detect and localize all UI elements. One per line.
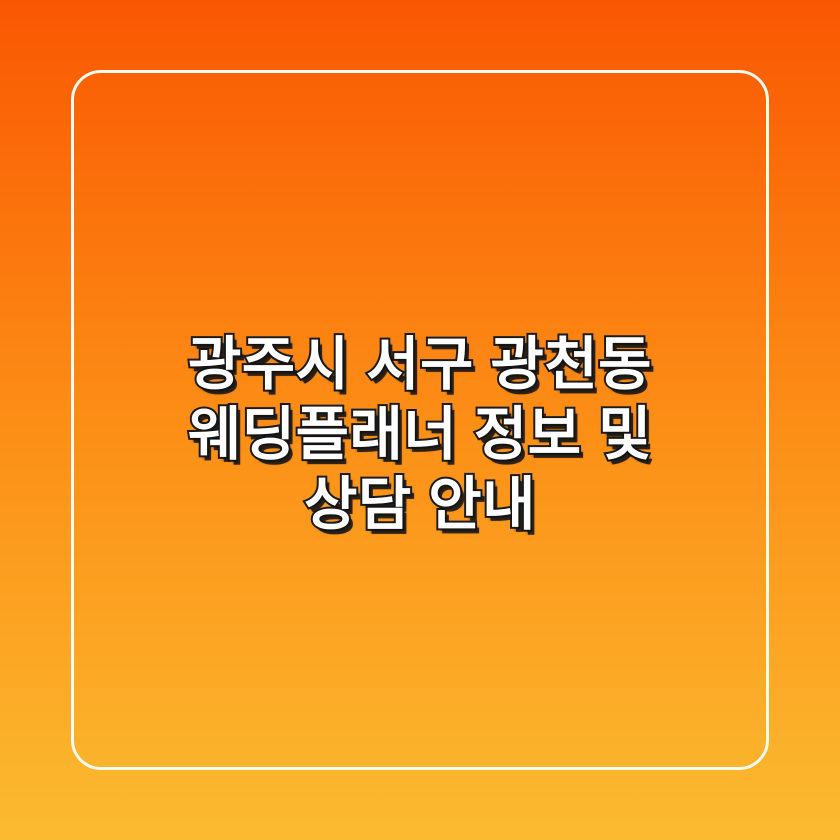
headline-line-1: 광주시 서구 광천동 (188, 330, 652, 400)
headline-block: 광주시 서구 광천동 웨딩플래너 정보 및 상담 안내 (0, 0, 840, 840)
headline-line-3: 상담 안내 (188, 470, 652, 540)
headline-line-2: 웨딩플래너 정보 및 (188, 400, 652, 470)
promo-banner: 광주시 서구 광천동 웨딩플래너 정보 및 상담 안내 (0, 0, 840, 840)
headline-lines: 광주시 서구 광천동 웨딩플래너 정보 및 상담 안내 (188, 330, 652, 540)
